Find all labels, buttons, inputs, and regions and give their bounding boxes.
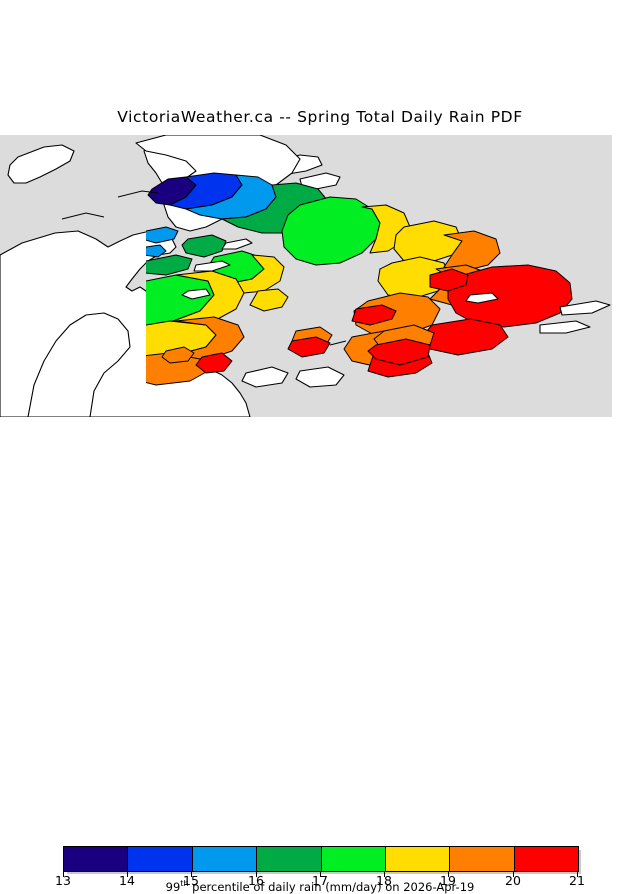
colorbar-band-16-17[interactable]	[257, 847, 321, 871]
colorbar-band-19-20[interactable]	[450, 847, 514, 871]
caption-prefix: 99	[166, 880, 181, 894]
colorbar-band-20-21[interactable]	[515, 847, 578, 871]
colorbar-band-15-16[interactable]	[193, 847, 257, 871]
map-panel[interactable]	[0, 135, 612, 417]
page-root: VictoriaWeather.ca -- Spring Total Daily…	[0, 0, 640, 480]
caption-suffix: percentile of daily rain (mm/day) on 202…	[189, 880, 475, 894]
colorbar-band-13-14[interactable]	[64, 847, 128, 871]
colorbar-caption: 99th percentile of daily rain (mm/day) o…	[0, 879, 640, 894]
colorbar[interactable]	[63, 846, 579, 872]
map-canvas[interactable]	[0, 135, 612, 417]
colorbar-band-14-15[interactable]	[128, 847, 192, 871]
page-title: VictoriaWeather.ca -- Spring Total Daily…	[0, 108, 640, 126]
colorbar-band-17-18[interactable]	[322, 847, 386, 871]
colorbar-band-18-19[interactable]	[386, 847, 450, 871]
colorbar-area: 13 14 15 16 17 18 19 20 21 99th percenti…	[0, 420, 640, 480]
caption-superscript: th	[180, 879, 188, 888]
